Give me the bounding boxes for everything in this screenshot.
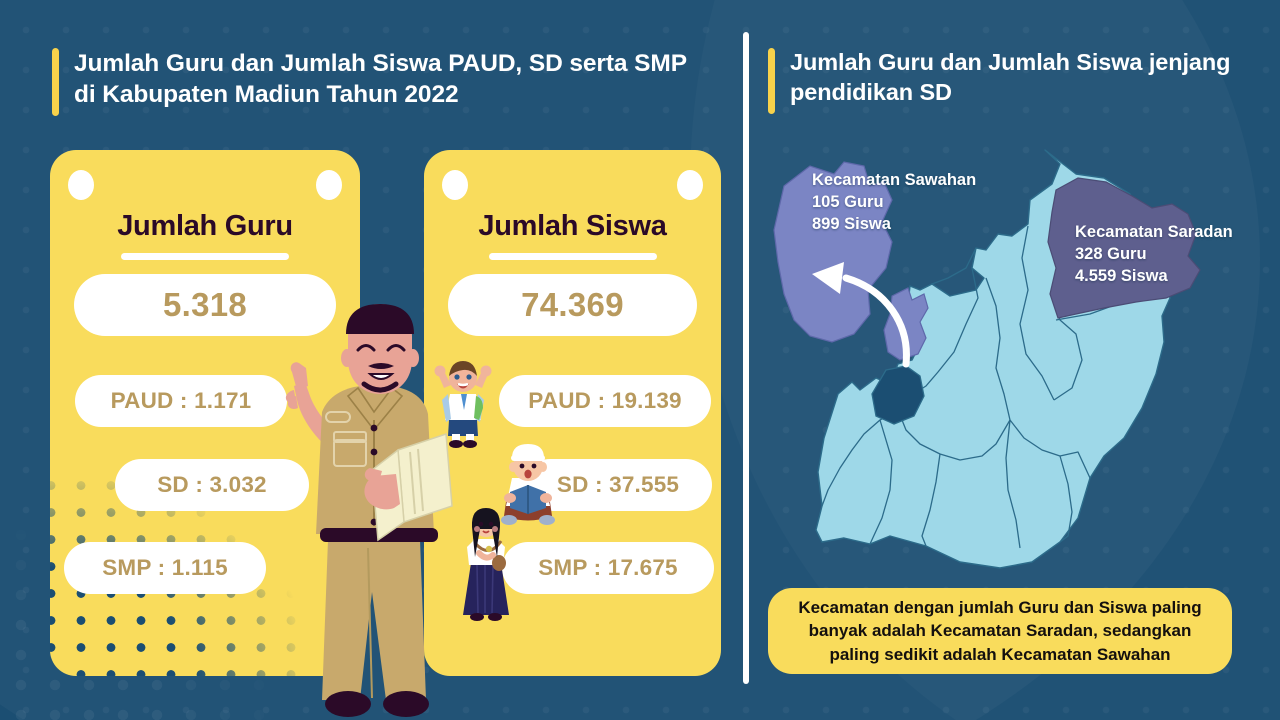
vertical-divider — [743, 32, 749, 684]
card-jumlah-siswa: Jumlah Siswa 74.369 PAUD : 19.139 SD : 3… — [424, 150, 721, 676]
punch-hole-right-icon — [316, 170, 342, 200]
heading-underline — [121, 253, 289, 260]
title-accent-bar — [768, 48, 775, 114]
punch-hole-right-icon — [677, 170, 703, 200]
siswa-paud-pill: PAUD : 19.139 — [499, 375, 711, 427]
guru-sd-pill: SD : 3.032 — [115, 459, 309, 511]
saradan-guru: 328 Guru — [1075, 244, 1233, 266]
guru-smp-pill: SMP : 1.115 — [64, 542, 266, 594]
heading-underline — [489, 253, 657, 260]
sawahan-siswa: 899 Siswa — [812, 214, 976, 236]
card-jumlah-guru: Jumlah Guru 5.318 PAUD : 1.171 SD : 3.03… — [50, 150, 360, 676]
siswa-total-value: 74.369 — [448, 274, 697, 336]
saradan-name: Kecamatan Saradan — [1075, 222, 1233, 244]
left-title-text: Jumlah Guru dan Jumlah Siswa PAUD, SD se… — [74, 48, 712, 110]
map-caption-text: Kecamatan dengan jumlah Guru dan Siswa p… — [782, 596, 1218, 665]
sawahan-guru: 105 Guru — [812, 192, 976, 214]
map-label-saradan: Kecamatan Saradan 328 Guru 4.559 Siswa — [1075, 222, 1233, 287]
siswa-sd-pill: SD : 37.555 — [524, 459, 712, 511]
card-siswa-heading: Jumlah Siswa — [424, 210, 721, 243]
map-label-sawahan: Kecamatan Sawahan 105 Guru 899 Siswa — [812, 170, 976, 235]
left-title: Jumlah Guru dan Jumlah Siswa PAUD, SD se… — [52, 48, 712, 116]
guru-paud-pill: PAUD : 1.171 — [75, 375, 287, 427]
siswa-smp-pill: SMP : 17.675 — [502, 542, 714, 594]
saradan-siswa: 4.559 Siswa — [1075, 266, 1233, 288]
sawahan-name: Kecamatan Sawahan — [812, 170, 976, 192]
infographic-canvas: Jumlah Guru dan Jumlah Siswa PAUD, SD se… — [0, 0, 1280, 720]
punch-hole-left-icon — [68, 170, 94, 200]
card-guru-heading: Jumlah Guru — [50, 210, 360, 243]
punch-hole-left-icon — [442, 170, 468, 200]
right-title-text: Jumlah Guru dan Jumlah Siswa jenjang pen… — [790, 48, 1238, 108]
title-accent-bar — [52, 48, 59, 116]
guru-total-value: 5.318 — [74, 274, 336, 336]
map-caption-box: Kecamatan dengan jumlah Guru dan Siswa p… — [768, 588, 1232, 674]
right-title: Jumlah Guru dan Jumlah Siswa jenjang pen… — [768, 48, 1238, 114]
